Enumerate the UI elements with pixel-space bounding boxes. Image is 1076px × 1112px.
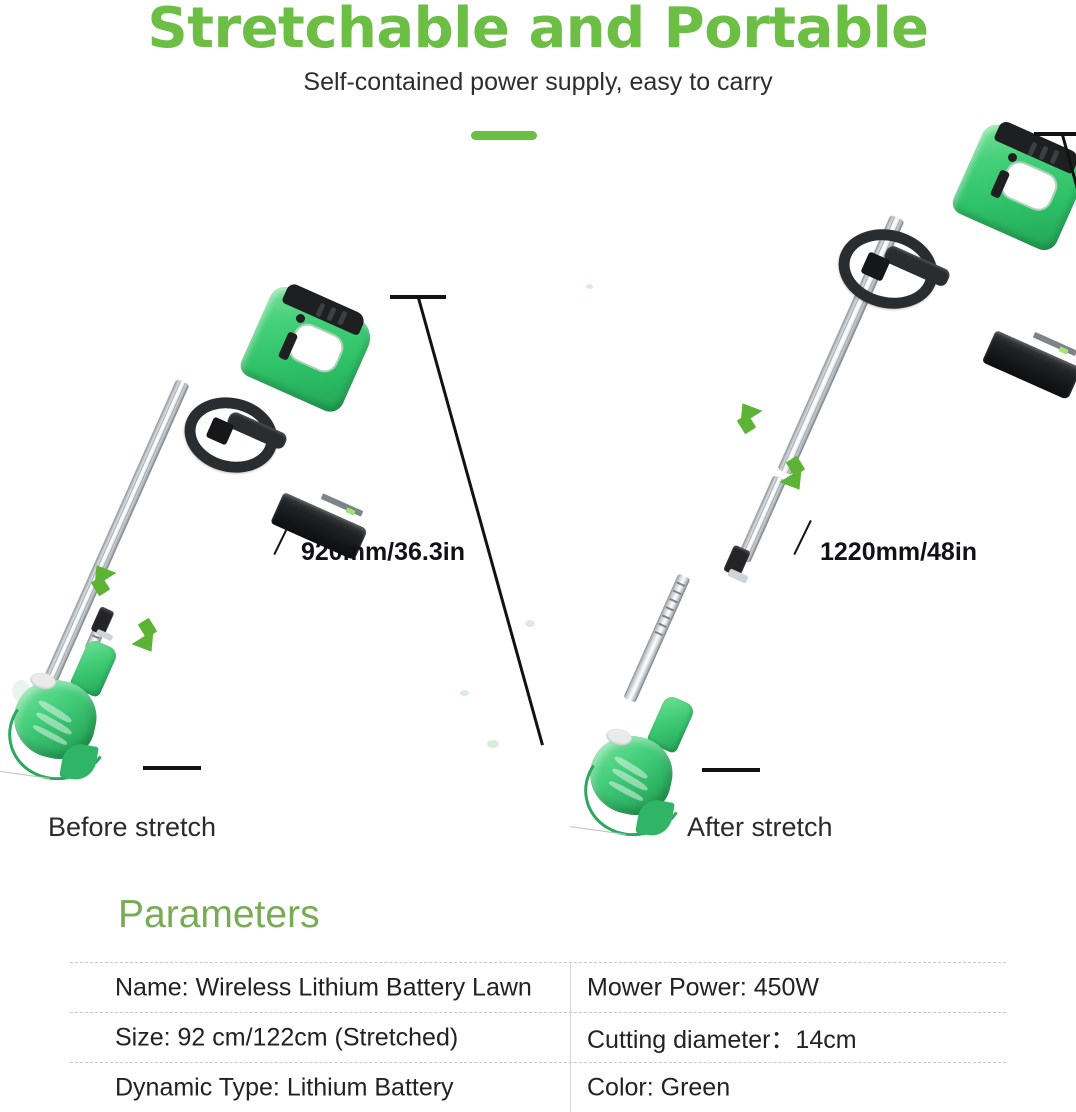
product-stage: 920mm/36.3in xyxy=(0,120,1076,860)
shaft-highlight xyxy=(745,479,783,562)
extension-notch xyxy=(676,581,685,586)
dimension-tick-bottom xyxy=(143,766,201,770)
page-subtitle: Self-contained power supply, easy to car… xyxy=(0,68,1076,97)
extension-notch xyxy=(673,590,682,595)
caption-after-stretch: After stretch xyxy=(687,812,833,843)
battery-pack xyxy=(982,330,1076,400)
column-divider xyxy=(570,963,571,1012)
table-row: Size: 92 cm/122cm (Stretched) Cutting di… xyxy=(70,1013,1006,1063)
product-infographic: Stretchable and Portable Self-contained … xyxy=(0,0,1076,1112)
trimmer-extension-tube xyxy=(623,573,690,703)
extension-notch xyxy=(669,598,678,603)
page-title: Stretchable and Portable xyxy=(0,0,1076,61)
table-row: Dynamic Type: Lithium Battery Color: Gre… xyxy=(70,1063,1006,1112)
trimmer-before-stretch: 920mm/36.3in xyxy=(0,120,420,820)
caption-before-stretch: Before stretch xyxy=(48,812,216,843)
extension-notch xyxy=(665,606,674,611)
dimension-label-before: 920mm/36.3in xyxy=(301,538,465,567)
background-speck xyxy=(460,690,469,696)
dimension-tick-bottom xyxy=(702,768,760,772)
param-color-cell: Color: Green xyxy=(587,1073,730,1102)
parameters-table: Name: Wireless Lithium Battery Lawn Mowe… xyxy=(70,962,1006,1112)
background-speck xyxy=(487,740,499,748)
trimmer-after-stretch: 1220mm/48in xyxy=(560,120,1076,820)
param-size-cell: Size: 92 cm/122cm (Stretched) xyxy=(115,1023,458,1052)
extension-notch xyxy=(658,623,667,628)
column-divider xyxy=(570,1013,571,1062)
extension-notch xyxy=(654,631,663,636)
dimension-label-after: 1220mm/48in xyxy=(820,538,977,567)
shaft-highlight xyxy=(46,381,181,683)
dimension-tick-top xyxy=(1034,132,1076,136)
extension-notch xyxy=(662,614,671,619)
dimension-leader xyxy=(793,520,811,555)
trimmer-shaft-upper xyxy=(42,379,189,686)
shaft-highlight xyxy=(741,477,779,560)
parameters-heading: Parameters xyxy=(118,893,320,937)
motor-power-switch[interactable] xyxy=(296,314,305,323)
param-dynamic-type-cell: Dynamic Type: Lithium Battery xyxy=(115,1073,454,1102)
background-speck xyxy=(525,620,535,627)
param-cutting-diameter-cell: Cutting diameter：14cm xyxy=(587,1020,857,1056)
column-divider xyxy=(570,1063,571,1112)
param-name-cell: Name: Wireless Lithium Battery Lawn xyxy=(115,973,532,1002)
dimension-line xyxy=(417,298,544,746)
table-row: Name: Wireless Lithium Battery Lawn Mowe… xyxy=(70,962,1006,1013)
shaft-highlight xyxy=(51,383,186,685)
param-power-cell: Mower Power: 450W xyxy=(587,973,819,1002)
